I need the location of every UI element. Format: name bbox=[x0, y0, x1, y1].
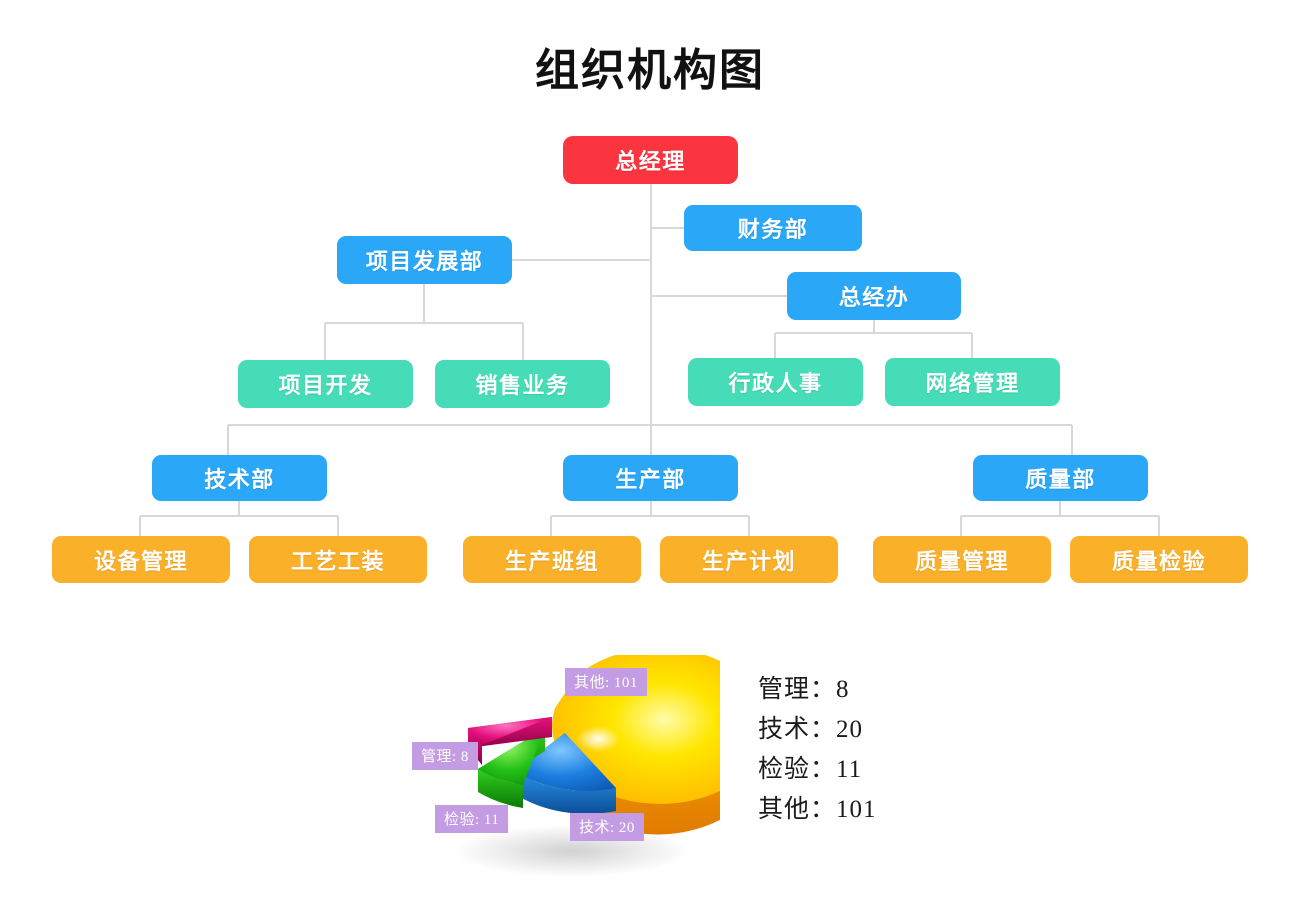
pie-label-tech: 技术: 20 bbox=[570, 813, 644, 841]
legend-value-other: 101 bbox=[836, 796, 877, 823]
org-node-sales[interactable]: 销售业务 bbox=[435, 360, 610, 408]
org-node-technical[interactable]: 技术部 bbox=[152, 455, 327, 501]
org-node-admin-hr[interactable]: 行政人事 bbox=[688, 358, 863, 406]
org-node-production[interactable]: 生产部 bbox=[563, 455, 738, 501]
org-node-project-development[interactable]: 项目发展部 bbox=[337, 236, 512, 284]
legend-label-inspection: 检验 bbox=[758, 756, 810, 783]
legend-row-other: 其他：101 bbox=[758, 790, 1058, 830]
org-node-network-management[interactable]: 网络管理 bbox=[885, 358, 1060, 406]
org-connector-lines bbox=[0, 0, 1300, 620]
legend-row-management: 管理：8 bbox=[758, 670, 1058, 710]
org-node-process-tooling[interactable]: 工艺工装 bbox=[249, 536, 427, 583]
pie-label-inspection: 检验: 11 bbox=[435, 805, 508, 833]
org-node-production-team[interactable]: 生产班组 bbox=[463, 536, 641, 583]
org-node-gm-office[interactable]: 总经办 bbox=[787, 272, 961, 320]
org-node-equipment-management[interactable]: 设备管理 bbox=[52, 536, 230, 583]
legend-label-management: 管理 bbox=[758, 676, 810, 703]
org-node-production-plan[interactable]: 生产计划 bbox=[660, 536, 838, 583]
legend-row-tech: 技术：20 bbox=[758, 710, 1058, 750]
org-node-root[interactable]: 总经理 bbox=[563, 136, 738, 184]
legend-value-inspection: 11 bbox=[836, 756, 862, 783]
pie-label-management: 管理: 8 bbox=[412, 742, 478, 770]
chart-legend: 管理：8 技术：20 检验：11 其他：101 bbox=[758, 670, 1058, 830]
org-chart: 总经理 财务部 项目发展部 总经办 项目开发 销售业务 行政人事 网络管理 技术… bbox=[0, 0, 1300, 620]
legend-colon: ： bbox=[810, 796, 836, 823]
legend-colon: ： bbox=[810, 756, 836, 783]
pie-chart: 其他: 101 管理: 8 检验: 11 技术: 20 bbox=[420, 655, 720, 885]
org-node-project-dev-team[interactable]: 项目开发 bbox=[238, 360, 413, 408]
legend-row-inspection: 检验：11 bbox=[758, 750, 1058, 790]
pie-specular-highlight bbox=[576, 726, 620, 752]
legend-colon: ： bbox=[810, 676, 836, 703]
pie-label-other: 其他: 101 bbox=[565, 668, 647, 696]
staff-distribution-chart: 其他: 101 管理: 8 检验: 11 技术: 20 管理：8 技术：20 检… bbox=[0, 620, 1300, 900]
legend-label-other: 其他 bbox=[758, 796, 810, 823]
legend-colon: ： bbox=[810, 716, 836, 743]
org-node-quality-management[interactable]: 质量管理 bbox=[873, 536, 1051, 583]
org-node-quality[interactable]: 质量部 bbox=[973, 455, 1148, 501]
org-node-quality-inspection[interactable]: 质量检验 bbox=[1070, 536, 1248, 583]
legend-value-management: 8 bbox=[836, 676, 850, 703]
legend-label-tech: 技术 bbox=[758, 716, 810, 743]
org-node-finance[interactable]: 财务部 bbox=[684, 205, 862, 251]
legend-value-tech: 20 bbox=[836, 716, 863, 743]
